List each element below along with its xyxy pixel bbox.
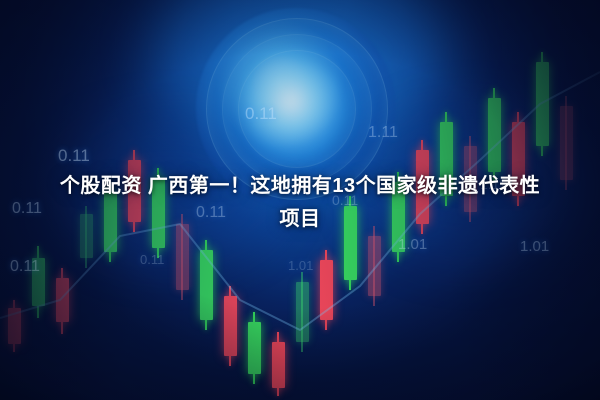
headline-band: 个股配资 广西第一！这地拥有13个国家级非遗代表性项目 xyxy=(0,160,600,246)
headline-text: 个股配资 广西第一！这地拥有13个国家级非遗代表性项目 xyxy=(50,170,550,236)
stock-banner-image: 0.111.110.110.110.110.110.111.011.011.11… xyxy=(0,0,600,400)
